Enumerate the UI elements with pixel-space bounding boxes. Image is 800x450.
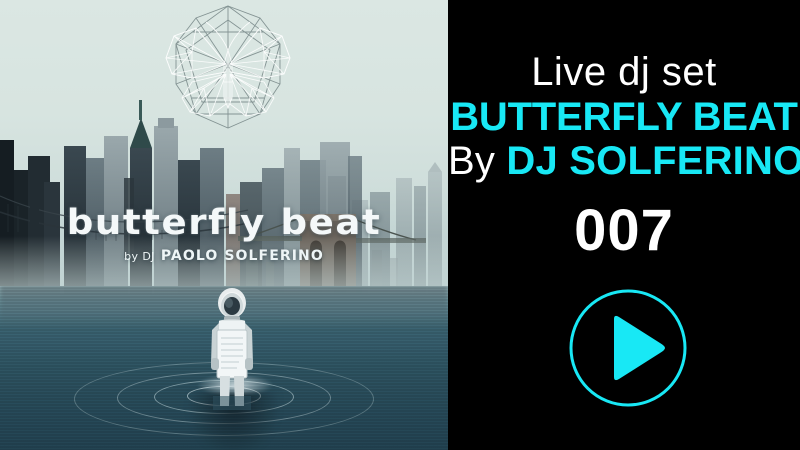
panel-line-show-title: BUTTERFLY BEAT [448, 97, 800, 137]
panel-line-artist: By DJ SOLFERINO [448, 141, 800, 181]
artwork-still: butterfly beat by DJ PAOLO SOLFERINO [0, 0, 448, 450]
artwork-subtitle-prefix: by DJ [124, 250, 155, 263]
city-skyline [0, 0, 448, 320]
artwork-subtitle: by DJ PAOLO SOLFERINO [0, 249, 448, 263]
artwork-title: butterfly beat [0, 206, 448, 241]
panel-line-live-dj-set: Live dj set [448, 52, 800, 92]
astronaut-figure [203, 286, 261, 416]
video-thumbnail: butterfly beat by DJ PAOLO SOLFERINO Liv… [0, 0, 800, 450]
episode-number: 007 [448, 202, 800, 260]
play-triangle-icon [614, 316, 665, 380]
panel-artist-prefix: By [448, 139, 506, 183]
play-button[interactable] [568, 288, 688, 408]
panel-artist-name: DJ SOLFERINO [506, 139, 800, 183]
artwork-subtitle-name: PAOLO SOLFERINO [161, 248, 324, 264]
